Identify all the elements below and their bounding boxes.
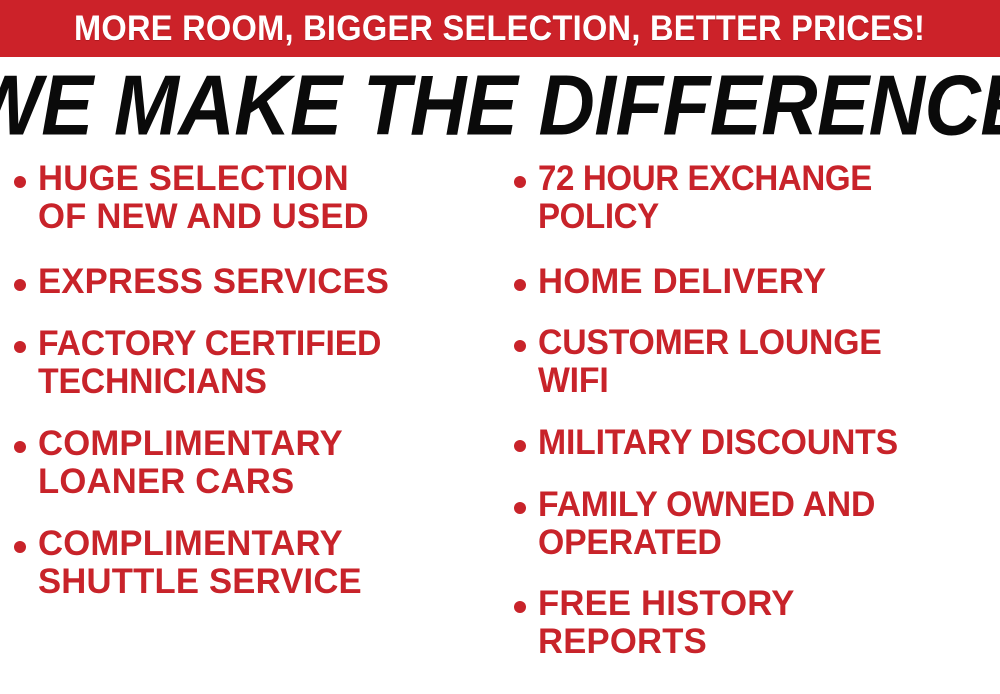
headline: WE MAKE THE DIFFERENCE bbox=[0, 62, 1000, 148]
bullet-dot-icon bbox=[514, 279, 526, 291]
list-item-label: COMPLIMENTARY LOANER CARS bbox=[38, 425, 343, 501]
bullet-dot-icon bbox=[14, 341, 26, 353]
list-item: FAMILY OWNED AND OPERATED bbox=[514, 486, 887, 562]
list-item: FACTORY CERTIFIED TECHNICIANS bbox=[14, 325, 394, 401]
headline-text: WE MAKE THE DIFFERENCE bbox=[0, 62, 1000, 148]
bullet-dot-icon bbox=[514, 340, 526, 352]
list-item-label: EXPRESS SERVICES bbox=[38, 263, 389, 301]
list-item: FREE HISTORY REPORTS bbox=[514, 585, 797, 661]
list-item: COMPLIMENTARY LOANER CARS bbox=[14, 425, 346, 501]
list-item-label: CUSTOMER LOUNGE WIFI bbox=[538, 324, 882, 400]
list-item-label: 72 HOUR EXCHANGE POLICY bbox=[538, 160, 872, 236]
bullet-dot-icon bbox=[514, 601, 526, 613]
list-item: HOME DELIVERY bbox=[514, 263, 829, 301]
promo-banner: MORE ROOM, BIGGER SELECTION, BETTER PRIC… bbox=[0, 0, 1000, 57]
bullet-dot-icon bbox=[14, 279, 26, 291]
list-item-label: FREE HISTORY REPORTS bbox=[538, 585, 795, 661]
bullet-dot-icon bbox=[14, 441, 26, 453]
list-item: 72 HOUR EXCHANGE POLICY bbox=[514, 160, 891, 236]
bullet-dot-icon bbox=[514, 440, 526, 452]
list-item: COMPLIMENTARY SHUTTLE SERVICE bbox=[14, 525, 365, 601]
bullet-dot-icon bbox=[514, 176, 526, 188]
list-item-label: MILITARY DISCOUNTS bbox=[538, 424, 898, 462]
bullet-dot-icon bbox=[14, 176, 26, 188]
list-item: HUGE SELECTION OF NEW AND USED bbox=[14, 160, 372, 236]
list-item: EXPRESS SERVICES bbox=[14, 263, 393, 301]
list-item-label: FACTORY CERTIFIED TECHNICIANS bbox=[38, 325, 381, 401]
bullet-dot-icon bbox=[514, 502, 526, 514]
list-item-label: HUGE SELECTION OF NEW AND USED bbox=[38, 160, 369, 236]
list-item-label: HOME DELIVERY bbox=[538, 263, 826, 301]
bullet-dot-icon bbox=[14, 541, 26, 553]
list-item: CUSTOMER LOUNGE WIFI bbox=[514, 324, 894, 400]
promo-banner-text: MORE ROOM, BIGGER SELECTION, BETTER PRIC… bbox=[74, 11, 925, 46]
list-item-label: COMPLIMENTARY SHUTTLE SERVICE bbox=[38, 525, 362, 601]
list-item: MILITARY DISCOUNTS bbox=[514, 424, 911, 462]
list-item-label: FAMILY OWNED AND OPERATED bbox=[538, 486, 875, 562]
